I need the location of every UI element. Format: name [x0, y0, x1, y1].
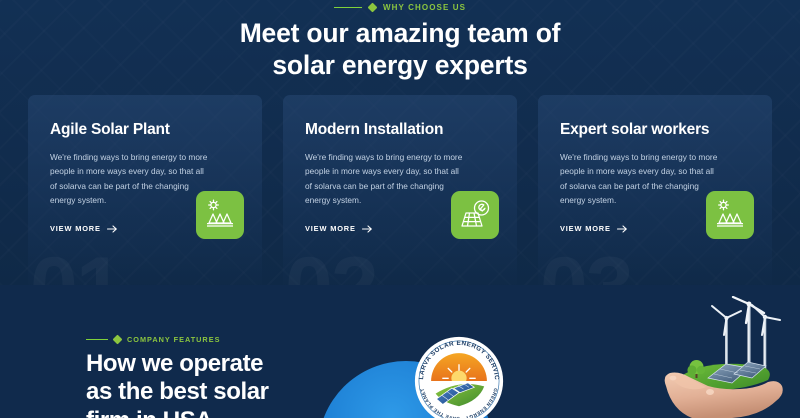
solar-panel-array-sun-icon — [713, 199, 747, 231]
card-number-watermark: 02 — [285, 245, 377, 285]
feature-card[interactable]: 01 Agile Solar Plant We're finding ways … — [28, 95, 262, 285]
solar-panel-wrench-icon — [458, 199, 492, 231]
arrow-right-icon — [362, 225, 373, 233]
view-more-link[interactable]: VIEW MORE — [305, 224, 373, 233]
feature-card[interactable]: 03 Expert solar workers We're finding wa… — [538, 95, 772, 285]
view-more-label: VIEW MORE — [305, 224, 356, 233]
hand-holding-wind-turbines-icon — [648, 296, 800, 418]
headline-line-2: solar energy experts — [272, 50, 527, 80]
sun-over-solar-field-seal-icon — [431, 353, 487, 409]
company-features-title: How we operate as the best solar firm in… — [86, 350, 269, 418]
bottom-headline-line-3: firm in USA — [86, 407, 212, 418]
card-title: Expert solar workers — [560, 121, 750, 139]
why-choose-us-section: WHY CHOOSE US Meet our amazing team of s… — [0, 0, 800, 285]
section-eyebrow: WHY CHOOSE US — [0, 3, 800, 12]
bottom-headline-line-2: as the best solar — [86, 378, 269, 405]
eyebrow-label: COMPANY FEATURES — [127, 335, 220, 344]
card-icon-badge — [196, 191, 244, 239]
view-more-label: VIEW MORE — [560, 224, 611, 233]
company-features-eyebrow: COMPANY FEATURES — [86, 335, 220, 344]
eyebrow-diamond-icon — [113, 335, 123, 345]
card-number-watermark: 01 — [30, 245, 122, 285]
card-icon-badge — [706, 191, 754, 239]
arrow-right-icon — [617, 225, 628, 233]
card-description: We're finding ways to bring energy to mo… — [50, 150, 210, 207]
card-title: Modern Installation — [305, 121, 495, 139]
card-title: Agile Solar Plant — [50, 121, 240, 139]
card-description: We're finding ways to bring energy to mo… — [560, 150, 720, 207]
company-seal-badge: SOLARVA SOLAR ENERGY SERVICES GREEN ENER… — [414, 336, 504, 418]
eyebrow-diamond-icon — [368, 3, 378, 13]
wind-turbine-group — [712, 297, 780, 370]
view-more-label: VIEW MORE — [50, 224, 101, 233]
eyebrow-line-icon — [86, 339, 108, 340]
feature-card-list: 01 Agile Solar Plant We're finding ways … — [28, 95, 772, 285]
card-description: We're finding ways to bring energy to mo… — [305, 150, 465, 207]
eyebrow-label: WHY CHOOSE US — [383, 3, 466, 12]
card-number-watermark: 03 — [540, 245, 632, 285]
page-title: Meet our amazing team of solar energy ex… — [0, 17, 800, 81]
feature-card[interactable]: 02 Modern Installation We're finding way… — [283, 95, 517, 285]
view-more-link[interactable]: VIEW MORE — [560, 224, 628, 233]
bottom-headline-line-1: How we operate — [86, 350, 263, 377]
solar-panel-array-sun-icon — [203, 199, 237, 231]
view-more-link[interactable]: VIEW MORE — [50, 224, 118, 233]
arrow-right-icon — [107, 225, 118, 233]
eyebrow-line-icon — [334, 7, 362, 8]
card-icon-badge — [451, 191, 499, 239]
headline-line-1: Meet our amazing team of — [240, 18, 561, 48]
